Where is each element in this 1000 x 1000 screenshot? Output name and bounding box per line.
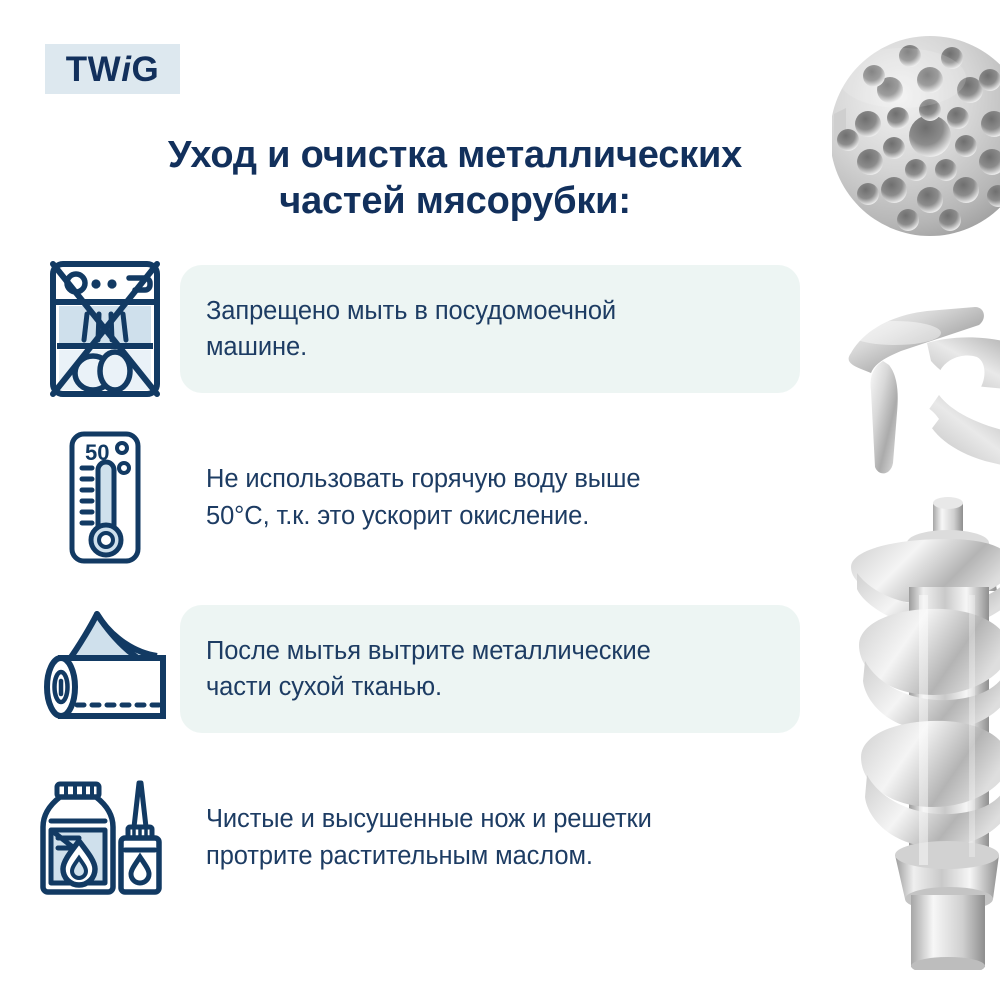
- infographic-page: TWiG Уход и очистка металлических частей…: [0, 0, 1000, 1000]
- icon-slot: [30, 608, 180, 730]
- brand-logo: TWiG: [45, 44, 180, 94]
- thermometer-icon: 50: [54, 430, 156, 565]
- logo-part-g: G: [131, 50, 159, 89]
- tip-text: После мытья вытрите металлическиечасти с…: [206, 633, 651, 705]
- page-title: Уход и очистка металлических частей мясо…: [60, 132, 850, 225]
- icon-slot: [30, 775, 180, 900]
- tip-callout: Запрещено мыть в посудомоечноймашине.: [180, 265, 800, 393]
- tip-callout: Чистые и высушенные нож и решеткипротрит…: [180, 775, 820, 899]
- logo-part-i: i: [121, 50, 131, 89]
- tip-callout: После мытья вытрите металлическиечасти с…: [180, 605, 800, 733]
- tip-row-water-temperature: 50 Не использовать горячую воду выше50°C…: [30, 430, 860, 565]
- cloth-roll-icon: [39, 608, 171, 730]
- tip-text: Запрещено мыть в посудомоечноймашине.: [206, 293, 616, 365]
- tip-text: Чистые и высушенные нож и решеткипротрит…: [206, 801, 796, 873]
- oil-bottles-icon: [35, 775, 175, 900]
- page-title-line-1: Уход и очистка металлических: [60, 132, 850, 178]
- tip-text: Не использовать горячую воду выше50°C, т…: [206, 461, 786, 533]
- brand-logo-text: TWiG: [66, 52, 159, 87]
- dishwasher-crossed-out-icon: [45, 258, 165, 400]
- page-title-line-2: частей мясорубки:: [60, 178, 850, 224]
- icon-slot: [30, 258, 180, 400]
- tip-callout: Не использовать горячую воду выше50°C, т…: [180, 435, 810, 559]
- tip-row-oil-the-parts: Чистые и высушенные нож и решеткипротрит…: [30, 775, 860, 900]
- tip-row-no-dishwasher: Запрещено мыть в посудомоечноймашине.: [30, 258, 850, 400]
- icon-slot: 50: [30, 430, 180, 565]
- meat-grinder-auger-screw-photo: [847, 495, 1000, 970]
- tip-row-dry-with-cloth: После мытья вытрите металлическиечасти с…: [30, 605, 850, 733]
- logo-part-tw: TW: [66, 50, 121, 89]
- meat-grinder-plate-photo: [832, 28, 1000, 243]
